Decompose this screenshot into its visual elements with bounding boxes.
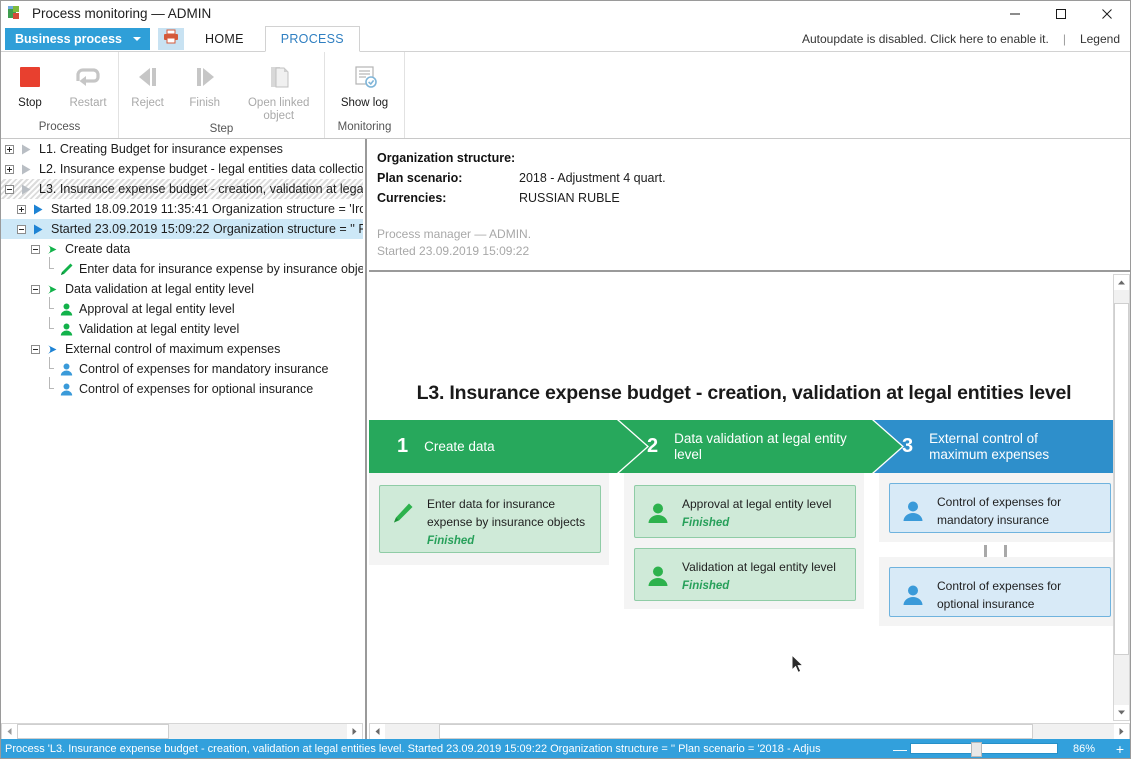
info-key: Organization structure: xyxy=(377,148,519,168)
scroll-left-arrow-icon[interactable] xyxy=(2,724,17,739)
person-blue-icon xyxy=(898,493,928,523)
task-status: Finished xyxy=(682,580,845,592)
expander-plus-icon[interactable] xyxy=(5,145,14,154)
tree-item-create-data[interactable]: Create data xyxy=(1,239,363,259)
linked-document-icon xyxy=(264,61,294,93)
stage-number: 2 xyxy=(647,435,658,458)
process-diagram[interactable]: L3. Insurance expense budget - creation,… xyxy=(369,274,1114,721)
pencil-green-icon xyxy=(58,261,74,277)
show-log-button[interactable]: Show log xyxy=(336,58,394,110)
tree-item-l1[interactable]: L1. Creating Budget for insurance expens… xyxy=(1,139,363,159)
connector-tick-left xyxy=(984,545,987,557)
task-status: Finished xyxy=(427,535,590,547)
finish-button-label: Finish xyxy=(189,97,220,110)
close-button[interactable] xyxy=(1084,1,1130,26)
tree-item-label: Approval at legal entity level xyxy=(79,302,235,316)
person-blue-icon xyxy=(58,361,74,377)
scroll-right-arrow-icon[interactable] xyxy=(347,724,362,739)
arrow-gray-icon xyxy=(18,141,34,157)
zoom-in-button[interactable]: + xyxy=(1110,741,1130,757)
info-row-organization-structure: Organization structure: xyxy=(377,148,1130,168)
stage-number: 1 xyxy=(397,435,408,458)
task-status: Finished xyxy=(682,517,845,529)
info-row-plan-scenario: Plan scenario: 2018 - Adjustment 4 quart… xyxy=(377,168,1130,188)
person-green-icon xyxy=(58,301,74,317)
arrow-blue-icon xyxy=(30,221,46,237)
stage-chevron-2[interactable]: 2 Data validation at legal entity level xyxy=(619,420,902,473)
ribbon-toolbar: Stop Restart Process xyxy=(1,52,1130,139)
tree-item-data-validation[interactable]: Data validation at legal entity level xyxy=(1,279,363,299)
tree-item-l2[interactable]: L2. Insurance expense budget - legal ent… xyxy=(1,159,363,179)
stage-chevron-3[interactable]: 3 External control of maximum expenses xyxy=(874,420,1114,473)
task-title: Control of expenses for optional insuran… xyxy=(937,579,1061,611)
stage-chevron-bar: 1 Create data 2 Data validation at legal… xyxy=(369,420,1114,473)
process-tree[interactable]: L1. Creating Budget for insurance expens… xyxy=(1,139,363,723)
tree-item-label: L3. Insurance expense budget - creation,… xyxy=(39,182,363,196)
diagram-vertical-scrollbar[interactable] xyxy=(1113,274,1130,721)
ribbon-group-empty xyxy=(404,52,1130,138)
scroll-thumb-vertical[interactable] xyxy=(1114,303,1129,655)
stage-label: External control of maximum expenses xyxy=(929,431,1114,463)
header-separator: | xyxy=(1063,32,1066,46)
tab-home-label: HOME xyxy=(205,32,244,46)
ribbon-group-step: Reject Finish xyxy=(118,52,324,138)
tree-item-control-optional[interactable]: Control of expenses for optional insuran… xyxy=(1,379,363,399)
info-value: RUSSIAN RUBLE xyxy=(519,188,620,208)
tree-item-label: Started 23.09.2019 15:09:22 Organization… xyxy=(51,222,363,236)
scroll-track-tree[interactable] xyxy=(17,724,347,739)
tree-guide-icon xyxy=(45,379,54,399)
expander-plus-icon[interactable] xyxy=(5,165,14,174)
task-card-approval[interactable]: Approval at legal entity level Finished xyxy=(634,485,856,538)
restart-button[interactable]: Restart xyxy=(59,58,117,110)
reject-left-arrow-icon xyxy=(133,61,163,93)
status-message: Process 'L3. Insurance expense budget - … xyxy=(5,743,821,755)
task-card-control-optional[interactable]: Control of expenses for optional insuran… xyxy=(889,567,1111,617)
title-bar: Process monitoring — ADMIN xyxy=(1,1,1130,26)
arrow-gray-icon xyxy=(18,161,34,177)
info-row-currencies: Currencies: RUSSIAN RUBLE xyxy=(377,188,1130,208)
reject-button[interactable]: Reject xyxy=(119,58,176,110)
tree-item-label: Control of expenses for optional insuran… xyxy=(79,382,313,396)
expander-plus-icon[interactable] xyxy=(17,205,26,214)
tab-process-label: PROCESS xyxy=(281,32,344,46)
log-clock-icon xyxy=(350,61,380,93)
stop-button[interactable]: Stop xyxy=(1,58,59,110)
tab-home[interactable]: HOME xyxy=(190,26,259,51)
show-log-button-label: Show log xyxy=(341,97,388,110)
connector-tick-right xyxy=(1004,545,1007,557)
process-started-line: Started 23.09.2019 15:09:22 xyxy=(377,243,1130,260)
expander-minus-icon[interactable] xyxy=(31,345,40,354)
info-key: Plan scenario: xyxy=(377,168,519,188)
tree-item-label: L1. Creating Budget for insurance expens… xyxy=(39,142,283,156)
arrow-gray-icon xyxy=(18,181,34,197)
tab-strip: Business process HOME PROCESS Autoupdate… xyxy=(1,26,1130,52)
app-icon xyxy=(8,6,24,21)
ribbon-group-monitoring-label: Monitoring xyxy=(325,121,404,138)
tree-item-validation[interactable]: Validation at legal entity level xyxy=(1,319,363,339)
stop-button-label: Stop xyxy=(18,97,42,110)
open-linked-object-label: Open linked object xyxy=(235,97,322,123)
task-card-control-mandatory[interactable]: Control of expenses for mandatory insura… xyxy=(889,483,1111,533)
info-key: Currencies: xyxy=(377,188,519,208)
stage-label: Data validation at legal entity level xyxy=(674,431,902,463)
tree-guide-icon xyxy=(45,259,54,279)
task-title: Validation at legal entity level xyxy=(682,560,836,574)
tree-item-label: L2. Insurance expense budget - legal ent… xyxy=(39,162,363,176)
pencil-green-icon xyxy=(388,495,418,525)
process-info-panel: Organization structure: Plan scenario: 2… xyxy=(369,139,1130,272)
diagram-title: L3. Insurance expense budget - creation,… xyxy=(389,382,1099,405)
zoom-slider-knob[interactable] xyxy=(971,742,982,757)
expander-minus-icon[interactable] xyxy=(5,185,14,194)
minimize-button[interactable] xyxy=(992,1,1038,26)
status-bar: Process 'L3. Insurance expense budget - … xyxy=(1,739,1130,758)
task-title: Control of expenses for mandatory insura… xyxy=(937,495,1061,527)
arrow-green-icon xyxy=(44,241,60,257)
tab-process[interactable]: PROCESS xyxy=(265,26,360,52)
chevron-down-icon xyxy=(133,37,141,41)
expander-minus-icon[interactable] xyxy=(17,225,26,234)
header-right-area: Autoupdate is disabled. Click here to en… xyxy=(802,26,1130,51)
open-linked-object-button[interactable]: Open linked object xyxy=(233,58,324,123)
zoom-percent-label: 86% xyxy=(1058,743,1110,755)
stop-square-icon xyxy=(17,61,43,93)
restart-arrow-icon xyxy=(73,61,103,93)
tree-guide-icon xyxy=(45,299,54,319)
person-green-icon xyxy=(58,321,74,337)
arrow-blue-icon xyxy=(30,201,46,217)
tree-item-label: Enter data for insurance expense by insu… xyxy=(79,262,363,276)
tree-item-label: External control of maximum expenses xyxy=(65,342,280,356)
window-controls xyxy=(992,1,1130,26)
stage-label: Create data xyxy=(424,439,541,455)
finish-button[interactable]: Finish xyxy=(176,58,233,110)
expander-minus-icon[interactable] xyxy=(31,245,40,254)
legend-link[interactable]: Legend xyxy=(1080,32,1120,46)
arrow-blue-icon xyxy=(44,341,60,357)
tree-item-label: Data validation at legal entity level xyxy=(65,282,254,296)
autoupdate-notice-link[interactable]: Autoupdate is disabled. Click here to en… xyxy=(802,32,1049,46)
scroll-down-arrow-icon[interactable] xyxy=(1114,705,1129,720)
info-meta: Process manager — ADMIN. Started 23.09.2… xyxy=(377,226,1130,260)
tree-item-enter-data[interactable]: Enter data for insurance expense by insu… xyxy=(1,259,363,279)
finish-right-arrow-icon xyxy=(190,61,220,93)
person-green-icon xyxy=(643,495,673,525)
process-manager-line: Process manager — ADMIN. xyxy=(377,226,1130,243)
printer-icon xyxy=(163,29,179,49)
tree-item-label: Control of expenses for mandatory insura… xyxy=(79,362,328,376)
maximize-button[interactable] xyxy=(1038,1,1084,26)
scroll-track-vertical[interactable] xyxy=(1114,290,1129,705)
tree-item-control-mandatory[interactable]: Control of expenses for mandatory insura… xyxy=(1,359,363,379)
tree-item-started-18-09[interactable]: Started 18.09.2019 11:35:41 Organization… xyxy=(1,199,363,219)
arrow-green-icon xyxy=(44,281,60,297)
task-title: Approval at legal entity level xyxy=(682,497,831,511)
restart-button-label: Restart xyxy=(69,97,106,110)
scroll-right-arrow-icon[interactable] xyxy=(1114,724,1129,739)
tree-item-label: Create data xyxy=(65,242,130,256)
tree-item-label: Started 18.09.2019 11:35:41 Organization… xyxy=(51,202,363,216)
window-title: Process monitoring — ADMIN xyxy=(32,6,211,21)
info-value: 2018 - Adjustment 4 quart. xyxy=(519,168,666,188)
tree-item-l3[interactable]: L3. Insurance expense budget - creation,… xyxy=(1,179,363,199)
scroll-left-arrow-icon[interactable] xyxy=(370,724,385,739)
ribbon-group-monitoring: Show log Monitoring xyxy=(324,52,404,138)
expander-minus-icon[interactable] xyxy=(31,285,40,294)
mouse-cursor xyxy=(791,654,805,674)
business-process-label: Business process xyxy=(15,32,122,46)
print-button[interactable] xyxy=(158,28,184,50)
person-blue-icon xyxy=(58,381,74,397)
stage-number: 3 xyxy=(902,435,913,458)
tree-item-external-control[interactable]: External control of maximum expenses xyxy=(1,339,363,359)
stage-chevron-1[interactable]: 1 Create data xyxy=(369,420,647,473)
tree-item-started-23-09[interactable]: Started 23.09.2019 15:09:22 Organization… xyxy=(1,219,363,239)
tree-guide-icon xyxy=(45,319,54,339)
task-card-enter-data[interactable]: Enter data for insurance expense by insu… xyxy=(379,485,601,553)
tree-item-approval[interactable]: Approval at legal entity level xyxy=(1,299,363,319)
scroll-track-diagram[interactable] xyxy=(385,724,1114,739)
person-blue-icon xyxy=(898,577,928,607)
tree-item-label: Validation at legal entity level xyxy=(79,322,239,336)
ribbon-group-process-label: Process xyxy=(1,121,118,138)
tree-horizontal-scrollbar[interactable] xyxy=(1,723,363,740)
zoom-slider[interactable] xyxy=(910,743,1058,754)
business-process-menu-button[interactable]: Business process xyxy=(5,28,150,50)
scroll-thumb-diagram[interactable] xyxy=(439,724,1033,739)
person-green-icon xyxy=(643,558,673,588)
scroll-thumb-tree[interactable] xyxy=(17,724,169,739)
task-card-validation[interactable]: Validation at legal entity level Finishe… xyxy=(634,548,856,601)
scroll-up-arrow-icon[interactable] xyxy=(1114,275,1129,290)
zoom-out-button[interactable]: — xyxy=(890,741,910,757)
ribbon-group-step-label: Step xyxy=(119,123,324,140)
task-title: Enter data for insurance expense by insu… xyxy=(427,497,585,529)
application-window: Process monitoring — ADMIN Business proc… xyxy=(0,0,1131,759)
diagram-horizontal-scrollbar[interactable] xyxy=(369,723,1130,740)
tree-guide-icon xyxy=(45,359,54,379)
ribbon-group-process: Stop Restart Process xyxy=(1,52,118,138)
reject-button-label: Reject xyxy=(131,97,164,110)
